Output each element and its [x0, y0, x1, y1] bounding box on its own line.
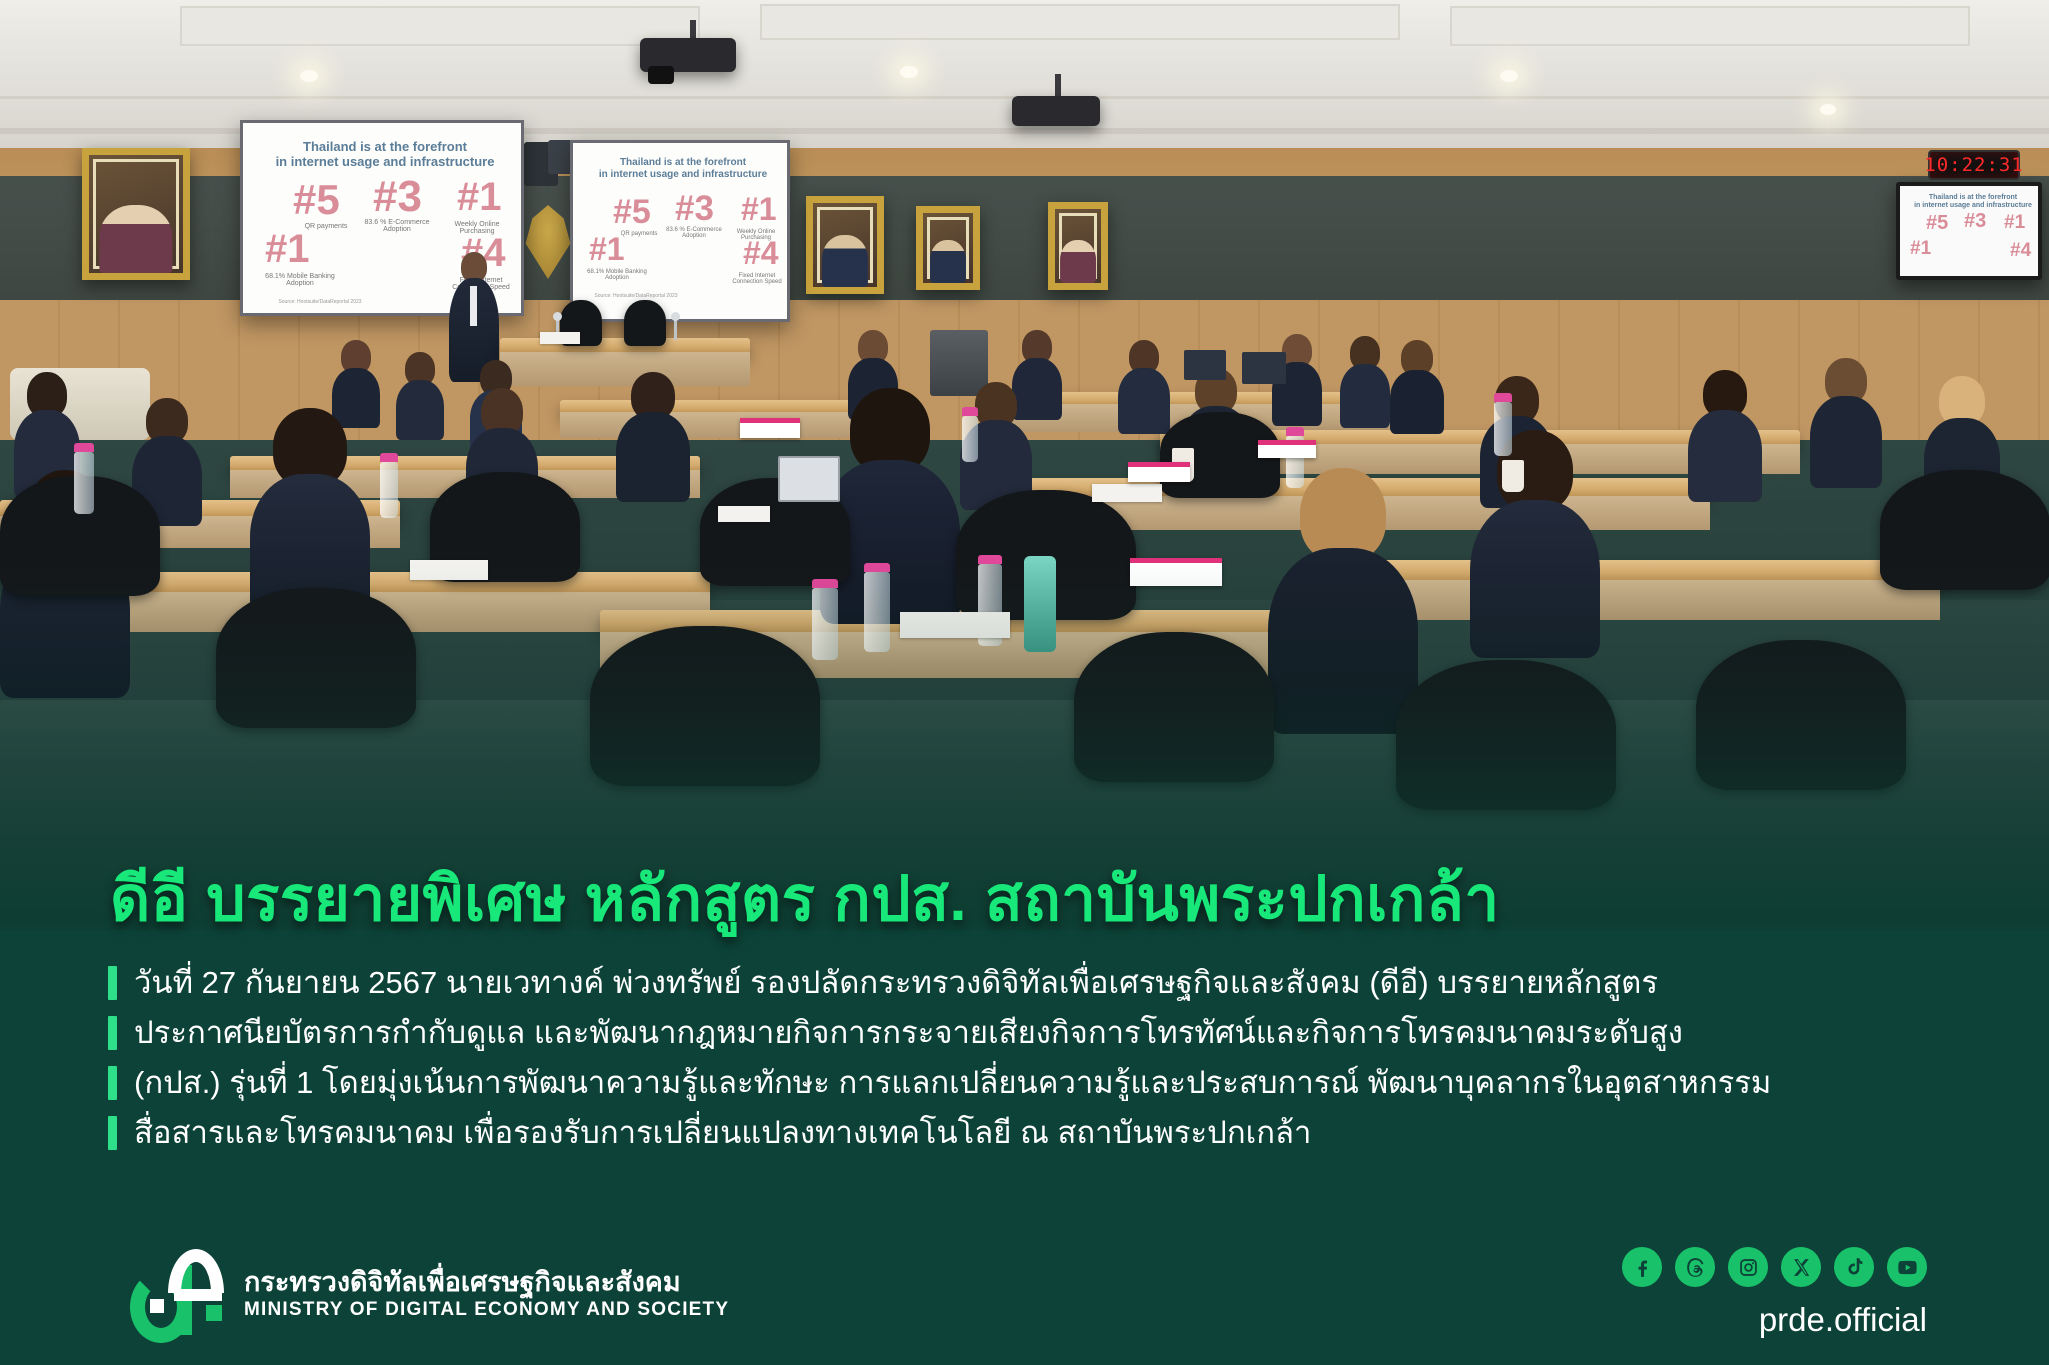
slide-title-line1: Thailand is at the forefront	[579, 157, 787, 169]
name-plate	[1258, 440, 1316, 458]
slide-source: Source: Hootsuite/DataReportal 2023	[255, 299, 385, 305]
royal-portrait-3	[1048, 202, 1108, 290]
caption-line-1: วันที่ 27 กันยายน 2567 นายเวทางค์ พ่วงทร…	[108, 958, 1988, 1008]
slide-title-line2: in internet usage and infrastructure	[579, 169, 787, 181]
slide-title: Thailand is at the forefront in internet…	[251, 139, 519, 170]
screen-valance	[573, 140, 787, 143]
logo-e-shape	[168, 1249, 224, 1293]
ministry-name-th: กระทรวงดิจิทัลเพื่อเศรษฐกิจและสังคม	[244, 1267, 729, 1298]
portrait-figure	[930, 240, 966, 283]
instagram-icon[interactable]	[1728, 1247, 1768, 1287]
wall-monitor: Thailand is at the forefront in internet…	[1896, 182, 2042, 280]
attendee-body	[616, 412, 690, 502]
slide-title: Thailand is at the forefront in internet…	[579, 157, 787, 181]
attendee	[616, 372, 690, 498]
attendee-body	[1118, 368, 1170, 434]
ceiling-light	[900, 66, 918, 78]
slide-stat-rank: #5	[613, 197, 651, 228]
projection-screen-right: Thailand is at the forefront in internet…	[570, 140, 790, 322]
water-bottle	[1494, 402, 1512, 456]
ceiling-light	[1820, 104, 1836, 115]
ceiling-panel	[760, 4, 1400, 40]
slide-stat-caption: 83.6 % E-Commerce Adoption	[661, 227, 727, 239]
water-bottle	[74, 452, 94, 514]
youtube-icon[interactable]	[1887, 1247, 1927, 1287]
document	[540, 332, 580, 344]
threads-icon[interactable]	[1675, 1247, 1715, 1287]
microphone	[674, 318, 677, 340]
slide-stat-rank: #1	[457, 179, 502, 215]
monitor-stat-rank: #3	[1964, 212, 1986, 230]
screen-valance	[243, 120, 521, 123]
attendee-body	[1340, 364, 1390, 428]
monitor-stat-rank: #1	[2004, 214, 2025, 231]
royal-portrait-2	[916, 206, 980, 290]
slide-source: Source: Hootsuite/DataReportal 2023	[581, 293, 691, 299]
ceiling-panel	[1450, 6, 1970, 46]
bottle-cap	[74, 443, 94, 452]
bottle-cap	[962, 407, 978, 416]
coffee-cup	[1502, 460, 1524, 492]
event-photograph: 10:22:31 Thailand is at the forefront in…	[0, 0, 2049, 980]
ceiling-panel	[180, 6, 700, 46]
slide-stat-caption: 68.1% Mobile Banking Adoption	[259, 273, 341, 287]
attendee	[1118, 340, 1170, 432]
bottle-cap	[1286, 427, 1304, 436]
caption-body: วันที่ 27 กันยายน 2567 นายเวทางค์ พ่วงทร…	[108, 958, 1988, 1158]
slide-stat-rank: #1	[741, 195, 777, 224]
led-clock: 10:22:31	[1928, 150, 2020, 180]
footer: กระทรวงดิจิทัลเพื่อเศรษฐกิจและสังคม MINI…	[0, 1205, 2049, 1365]
monitor-title-line1: Thailand is at the forefront	[1904, 194, 2042, 202]
monitor-stat-rank: #4	[2010, 242, 2031, 259]
portrait-figure	[822, 235, 868, 287]
portrait-figure	[1060, 240, 1096, 283]
slide-stat-caption: 68.1% Mobile Banking Adoption	[583, 269, 651, 281]
attendee	[1390, 340, 1444, 432]
logo-square	[206, 1305, 222, 1321]
caption-line-3: (กปส.) รุ่นที่ 1 โดยมุ่งเน้นการพัฒนาความ…	[108, 1058, 1988, 1108]
logo-dot	[150, 1299, 164, 1313]
slide-title-line1: Thailand is at the forefront	[251, 139, 519, 154]
slide-stat-rank: #3	[675, 193, 714, 225]
monitor	[1184, 350, 1226, 380]
chair	[624, 300, 666, 346]
slide-stat-caption: 83.6 % E-Commerce Adoption	[355, 219, 439, 233]
social-handle: prde.official	[1759, 1301, 1927, 1339]
caption-line-4: สื่อสารและโทรคมนาคม เพื่อรองรับการเปลี่ย…	[108, 1108, 1988, 1158]
attendee-body	[1810, 396, 1882, 488]
royal-portrait-1	[806, 196, 884, 294]
name-plate	[740, 418, 800, 438]
de-logo-icon	[128, 1247, 224, 1343]
caption-panel: ดีอี บรรยายพิเศษ หลักสูตร กปส. สถาบันพระ…	[0, 930, 2049, 1365]
bottle-cap	[1494, 393, 1512, 402]
slide-stat-rank: #1	[589, 235, 625, 264]
attendee	[1810, 358, 1882, 484]
slide-stat-caption: Fixed Internet Connection Speed	[725, 273, 789, 285]
ministry-name-en: MINISTRY OF DIGITAL ECONOMY AND SOCIETY	[244, 1298, 729, 1323]
mic-head	[553, 312, 562, 321]
attendee	[1340, 336, 1390, 426]
social-media-poster: 10:22:31 Thailand is at the forefront in…	[0, 0, 2049, 1365]
laptop	[778, 456, 840, 502]
presenter-shirt	[470, 286, 477, 326]
slide-title-line2: in internet usage and infrastructure	[251, 154, 519, 169]
document	[718, 506, 770, 522]
attendee	[396, 352, 444, 438]
royal-portrait-left	[82, 148, 190, 280]
water-bottle	[962, 416, 978, 462]
ceiling-light	[1500, 70, 1518, 82]
bottle-cap	[380, 453, 398, 462]
slide-stat-rank: #3	[373, 177, 422, 217]
social-links[interactable]	[1622, 1247, 1927, 1287]
attendee-body	[1688, 410, 1762, 502]
slide-stat-rank: #5	[293, 181, 340, 219]
water-bottle	[380, 462, 398, 518]
attendee-body	[396, 380, 444, 440]
ministry-name: กระทรวงดิจิทัลเพื่อเศรษฐกิจและสังคม MINI…	[244, 1267, 729, 1323]
monitor-title: Thailand is at the forefront in internet…	[1904, 194, 2042, 211]
monitor-stat-rank: #5	[1926, 214, 1948, 232]
attendee	[1688, 370, 1762, 498]
ceiling-projector	[1012, 96, 1100, 126]
logo-e-bar	[174, 1289, 222, 1301]
ceiling-light	[300, 70, 318, 82]
slide-stat-rank: #1	[265, 231, 310, 267]
document	[1092, 484, 1162, 502]
x-icon[interactable]	[1781, 1247, 1821, 1287]
ministry-logo: กระทรวงดิจิทัลเพื่อเศรษฐกิจและสังคม MINI…	[128, 1247, 729, 1343]
tiktok-icon[interactable]	[1834, 1247, 1874, 1287]
attendee-body	[1390, 370, 1444, 434]
monitor-stat-rank: #1	[1910, 240, 1931, 257]
caption-line-2: ประกาศนียบัตรการกำกับดูแล และพัฒนากฎหมาย…	[108, 1008, 1988, 1058]
slide-stat-rank: #4	[743, 239, 779, 268]
laptop-screen	[1242, 352, 1286, 384]
page-title: ดีอี บรรยายพิเศษ หลักสูตร กปส. สถาบันพระ…	[110, 850, 1970, 948]
mic-head	[671, 312, 680, 321]
facebook-icon[interactable]	[1622, 1247, 1662, 1287]
name-plate	[1128, 462, 1190, 482]
portrait-figure	[99, 205, 172, 273]
projector-lens	[648, 66, 674, 84]
